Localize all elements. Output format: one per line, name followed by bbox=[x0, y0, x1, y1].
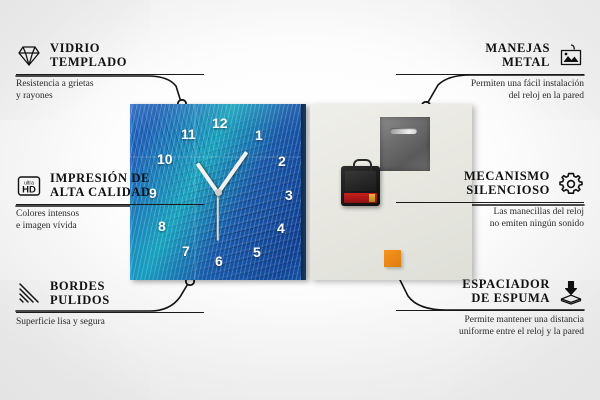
feature-description: Superficie lisa y segura bbox=[16, 317, 204, 329]
feature-callout-vidrio-templado[interactable]: VIDRIO TEMPLADO Resistencia a grietas y … bbox=[16, 42, 204, 102]
feature-divider bbox=[396, 74, 584, 75]
feature-description: Colores intensos e imagen vívida bbox=[16, 209, 204, 232]
clock-center-cap bbox=[215, 189, 222, 196]
mechanism-hanging-loop bbox=[353, 159, 372, 171]
clock-numeral-10: 10 bbox=[157, 152, 173, 166]
feature-title: BORDES PULIDOS bbox=[50, 280, 110, 307]
feature-divider bbox=[396, 310, 584, 311]
foam-spacer bbox=[384, 250, 401, 267]
clock-numeral-2: 2 bbox=[278, 154, 286, 168]
feature-callout-impresion-alta-calidad[interactable]: ultra HD IMPRESIÓN DE ALTA CALIDAD Color… bbox=[16, 172, 204, 232]
clock-numeral-11: 11 bbox=[181, 127, 196, 141]
feature-title: VIDRIO TEMPLADO bbox=[50, 42, 127, 69]
feature-callout-bordes-pulidos[interactable]: BORDES PULIDOS Superficie lisa y segura bbox=[16, 280, 204, 329]
polished-edges-icon bbox=[16, 281, 42, 307]
clock-side-edge bbox=[301, 104, 306, 280]
gear-icon bbox=[558, 171, 584, 197]
feature-description: Permite mantener una distancia uniforme … bbox=[396, 315, 584, 338]
mechanism-body-panel bbox=[345, 171, 376, 191]
feature-callout-mecanismo-silencioso[interactable]: MECANISMO SILENCIOSO Las manecillas del … bbox=[396, 170, 584, 230]
press-down-layers-icon bbox=[558, 279, 584, 305]
feature-title: IMPRESIÓN DE ALTA CALIDAD bbox=[50, 172, 151, 199]
infographic-canvas: 12 1 2 3 4 5 6 7 8 9 10 11 bbox=[0, 0, 600, 400]
wall-frame-icon bbox=[558, 43, 584, 69]
clock-second-hand bbox=[217, 193, 219, 241]
clock-numeral-6: 6 bbox=[215, 254, 223, 268]
clock-numeral-1: 1 bbox=[255, 128, 263, 142]
feature-callout-manejas-metal[interactable]: MANEJAS METAL Permiten una fácil instala… bbox=[396, 42, 584, 102]
feature-description: Las manecillas del reloj no emiten ningú… bbox=[396, 207, 584, 230]
feature-title: MANEJAS METAL bbox=[485, 42, 550, 69]
feature-description: Permiten una fácil instalación del reloj… bbox=[396, 79, 584, 102]
feature-divider bbox=[16, 204, 204, 205]
feature-title: ESPACIADOR DE ESPUMA bbox=[462, 278, 550, 305]
feature-title: MECANISMO SILENCIOSO bbox=[464, 170, 550, 197]
metal-hanger-plate bbox=[380, 117, 430, 171]
hanger-keyhole-slot bbox=[390, 128, 417, 134]
ultra-hd-large: HD bbox=[22, 184, 36, 195]
clock-numeral-4: 4 bbox=[277, 221, 285, 235]
feature-divider bbox=[16, 312, 204, 313]
feature-callout-espaciador-espuma[interactable]: ESPACIADOR DE ESPUMA Permite mantener un… bbox=[396, 278, 584, 338]
clock-numeral-3: 3 bbox=[285, 188, 293, 202]
feature-description: Resistencia a grietas y rayones bbox=[16, 79, 204, 102]
ultra-hd-icon: ultra HD bbox=[16, 173, 42, 199]
clock-numeral-5: 5 bbox=[253, 245, 261, 259]
clock-numeral-12: 12 bbox=[212, 116, 228, 130]
feature-divider bbox=[396, 202, 584, 203]
battery bbox=[344, 193, 377, 203]
clock-numeral-7: 7 bbox=[182, 244, 190, 258]
battery-terminal bbox=[369, 194, 375, 202]
diamond-icon bbox=[16, 43, 42, 69]
clock-mechanism bbox=[341, 166, 380, 206]
feature-divider bbox=[16, 74, 204, 75]
